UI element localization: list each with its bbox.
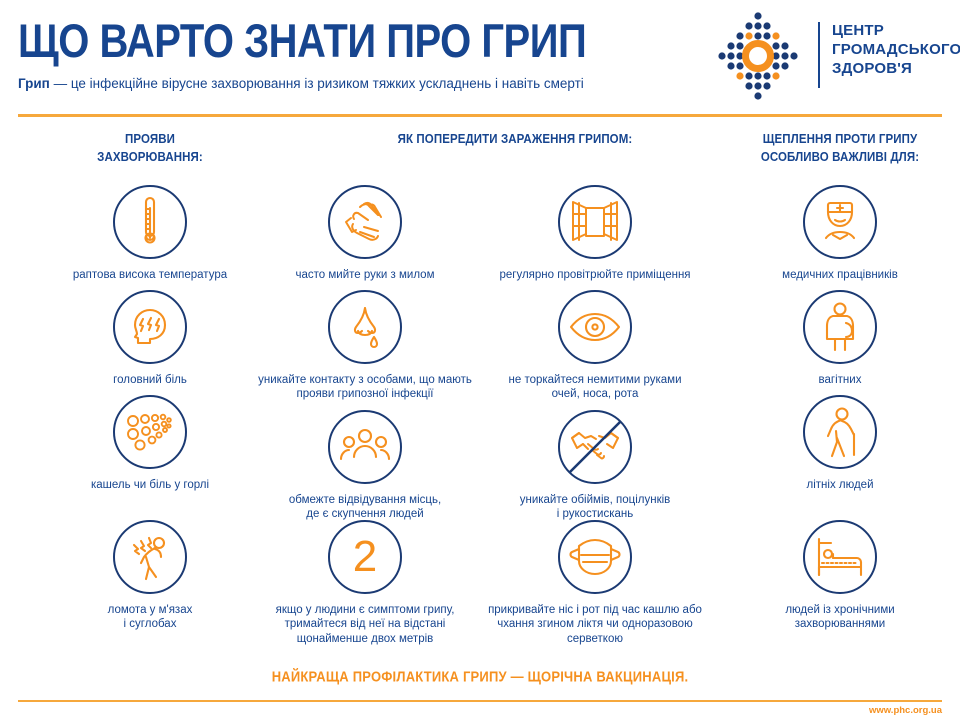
column-heading-line1: ЯК ПОПЕРЕДИТИ ЗАРАЖЕННЯ ГРИПОМ:: [300, 132, 730, 149]
column-heading-line2: ЗАХВОРЮВАННЯ:: [40, 149, 260, 166]
prevention-label: обмежте відвідування місць, де є скупчен…: [250, 493, 480, 522]
prevention-item-ventilate: регулярно провітрюйте приміщення: [480, 185, 710, 282]
prevention-item-no-handshake: уникайте обіймів, поцілунків і рукостиск…: [480, 410, 710, 522]
prevention-label: регулярно провітрюйте приміщення: [480, 268, 710, 282]
prevention-label: уникайте обіймів, поцілунків і рукостиск…: [480, 493, 710, 522]
runny-nose-icon: [328, 290, 402, 364]
wash-hands-icon: [328, 185, 402, 259]
prevention-label: часто мийте руки з милом: [250, 268, 480, 282]
symptom-label: раптова висока температура: [20, 268, 280, 282]
prevention-item-keep-distance: 2 якщо у людини є симптоми грипу, тримай…: [240, 520, 490, 646]
hospital-bed-icon: [803, 520, 877, 594]
subtitle-rest: — це інфекційне вірусне захворювання із …: [50, 76, 584, 91]
vaccination-label: людей із хронічними захворюваннями: [730, 603, 950, 632]
logo-text-line2: ГРОМАДСЬКОГО: [832, 41, 960, 60]
footer-website[interactable]: www.phc.org.ua: [869, 705, 942, 716]
prevention-label: не торкайтеся немитими руками очей, носа…: [475, 373, 715, 402]
medical-worker-icon: [803, 185, 877, 259]
vaccination-label: медичних працівників: [730, 268, 950, 282]
thermometer-icon: [113, 185, 187, 259]
vaccination-item-pregnant: вагітних: [730, 290, 950, 387]
subtitle-lead: Грип: [18, 76, 50, 91]
prevention-label: якщо у людини є симптоми грипу, тримайте…: [240, 603, 490, 646]
number-two-icon: 2: [328, 520, 402, 594]
column-heading-symptoms: ПРОЯВИ ЗАХВОРЮВАННЯ:: [40, 132, 260, 167]
vaccination-label: літніх людей: [730, 478, 950, 492]
symptom-item-cough: кашель чи біль у горлі: [20, 395, 280, 492]
prevention-label: прикривайте ніс і рот під час кашлю або …: [470, 603, 720, 646]
phc-logo-icon: [710, 10, 806, 102]
elderly-person-icon: [803, 395, 877, 469]
pregnant-woman-icon: [803, 290, 877, 364]
infographic-page: ЩО ВАРТО ЗНАТИ ПРО ГРИП Грип — це інфекц…: [0, 0, 960, 720]
vaccination-item-chronic-illness: людей із хронічними захворюваннями: [730, 520, 950, 632]
crowd-icon: [328, 410, 402, 484]
column-heading-line1: ЩЕПЛЕННЯ ПРОТИ ГРИПУ: [730, 132, 950, 149]
logo-text-line3: ЗДОРОВ'Я: [832, 60, 960, 79]
logo: ЦЕНТР ГРОМАДСЬКОГО ЗДОРОВ'Я: [700, 8, 950, 104]
prevention-item-cover-mouth: прикривайте ніс і рот під час кашлю або …: [470, 520, 720, 646]
column-heading-line1: ПРОЯВИ: [40, 132, 260, 149]
vaccination-item-elderly: літніх людей: [730, 395, 950, 492]
vaccination-label: вагітних: [730, 373, 950, 387]
footer-divider: [18, 700, 942, 702]
cough-droplets-icon: [113, 395, 187, 469]
body-ache-icon: [113, 520, 187, 594]
no-handshake-icon: [558, 410, 632, 484]
open-window-icon: [558, 185, 632, 259]
prevention-item-dont-touch-face: не торкайтеся немитими руками очей, носа…: [475, 290, 715, 402]
logo-divider: [818, 22, 820, 88]
prevention-item-wash-hands: часто мийте руки з милом: [250, 185, 480, 282]
footer-slogan: НАЙКРАЩА ПРОФІЛАКТИКА ГРИПУ — ЩОРІЧНА ВА…: [0, 668, 960, 685]
column-heading-vaccination: ЩЕПЛЕННЯ ПРОТИ ГРИПУ ОСОБЛИВО ВАЖЛИВІ ДЛ…: [730, 132, 950, 167]
prevention-label: уникайте контакту з особами, що мають пр…: [240, 373, 490, 402]
header-divider: [18, 114, 942, 117]
face-mask-icon: [558, 520, 632, 594]
header: ЩО ВАРТО ЗНАТИ ПРО ГРИП Грип — це інфекц…: [0, 0, 960, 115]
logo-text-line1: ЦЕНТР: [832, 22, 960, 41]
logo-text: ЦЕНТР ГРОМАДСЬКОГО ЗДОРОВ'Я: [832, 22, 960, 78]
symptom-label: кашель чи біль у горлі: [20, 478, 280, 492]
page-subtitle: Грип — це інфекційне вірусне захворюванн…: [18, 76, 584, 91]
prevention-item-avoid-contact: уникайте контакту з особами, що мають пр…: [240, 290, 490, 402]
symptom-item-fever: раптова висока температура: [20, 185, 280, 282]
distance-number: 2: [353, 535, 377, 579]
eye-icon: [558, 290, 632, 364]
page-title: ЩО ВАРТО ЗНАТИ ПРО ГРИП: [18, 18, 586, 65]
prevention-item-avoid-crowds: обмежте відвідування місць, де є скупчен…: [250, 410, 480, 522]
column-heading-prevention: ЯК ПОПЕРЕДИТИ ЗАРАЖЕННЯ ГРИПОМ:: [300, 132, 730, 149]
vaccination-item-medical-workers: медичних працівників: [730, 185, 950, 282]
head-pain-icon: [113, 290, 187, 364]
column-heading-line2: ОСОБЛИВО ВАЖЛИВІ ДЛЯ:: [730, 149, 950, 166]
